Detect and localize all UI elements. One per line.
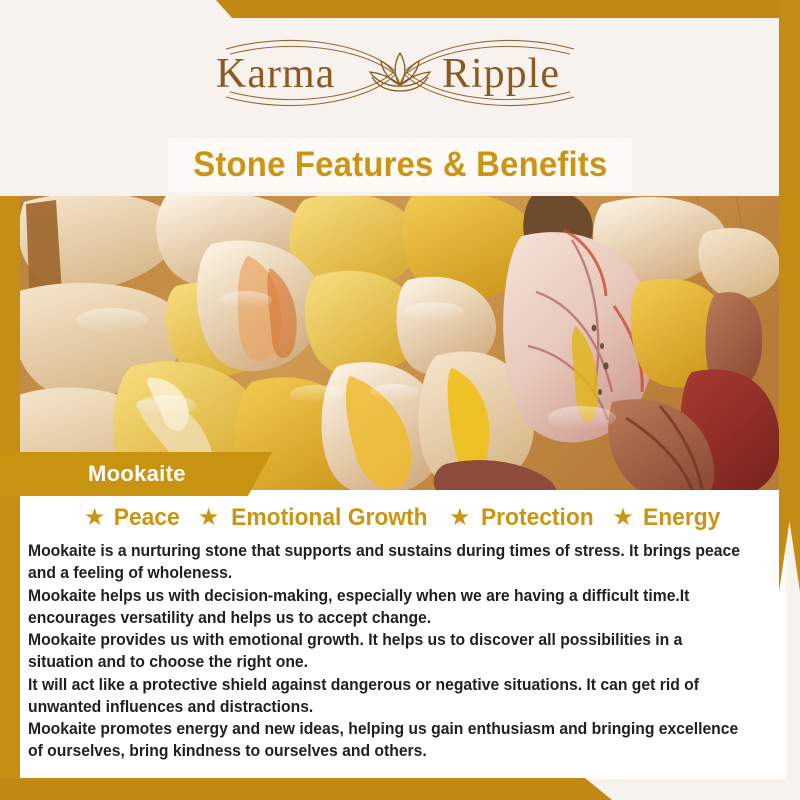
feature-label: Energy <box>643 504 720 532</box>
content-card: ★ Peace ★ Emotional Growth ★ Protection … <box>20 490 786 779</box>
brand-name-left: Karma <box>216 51 335 97</box>
lotus-flower-icon <box>370 53 430 91</box>
brand-name-right: Ripple <box>442 51 560 97</box>
feature-item-emotional-growth: ★ Emotional Growth <box>198 504 433 532</box>
page-title-banner: Stone Features & Benefits <box>168 138 632 192</box>
description-paragraph: Mookaite promotes energy and new ideas, … <box>28 718 752 762</box>
star-icon: ★ <box>84 506 106 530</box>
features-row: ★ Peace ★ Emotional Growth ★ Protection … <box>20 490 786 536</box>
stone-name-banner: Mookaite <box>0 452 272 496</box>
description-paragraph: It will act like a protective shield aga… <box>28 674 752 718</box>
logo-artwork: Karma Ripple <box>190 27 610 123</box>
gold-frame-bottom <box>0 778 612 800</box>
mookaite-stones-photo <box>16 196 780 490</box>
photo-artwork <box>16 196 780 490</box>
infographic-page: Karma Ripple Stone Features & Benefits <box>0 0 800 800</box>
description-paragraph: Mookaite is a nurturing stone that suppo… <box>28 540 752 584</box>
feature-label: Peace <box>114 504 180 532</box>
star-icon: ★ <box>198 506 220 530</box>
feature-item-protection: ★ Protection <box>449 504 596 532</box>
gold-frame-top <box>212 0 800 18</box>
star-icon: ★ <box>449 506 471 530</box>
description-paragraph: Mookaite provides us with emotional grow… <box>28 629 752 673</box>
feature-item-energy: ★ Energy <box>612 504 722 532</box>
description-text: Mookaite is a nurturing stone that suppo… <box>20 536 786 762</box>
page-title: Stone Features & Benefits <box>193 145 607 185</box>
description-paragraph: Mookaite helps us with decision-making, … <box>28 585 752 629</box>
feature-label: Emotional Growth <box>231 504 427 532</box>
feature-label: Protection <box>480 504 593 532</box>
brand-logo: Karma Ripple <box>0 16 800 134</box>
feature-item-peace: ★ Peace <box>84 504 182 532</box>
stone-name-label: Mookaite <box>0 461 186 487</box>
gold-frame-left <box>0 196 20 800</box>
gold-frame-right <box>779 0 800 592</box>
star-icon: ★ <box>612 506 634 530</box>
